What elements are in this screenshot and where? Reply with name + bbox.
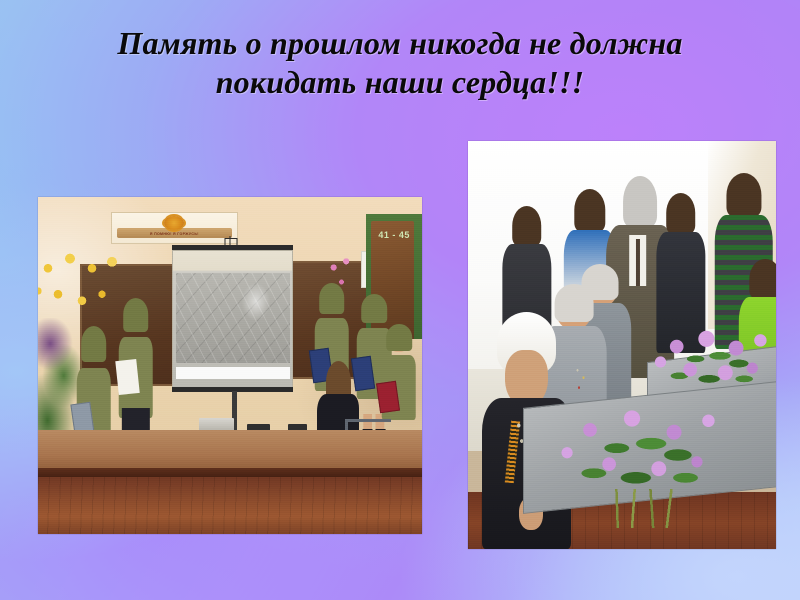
grey-hair xyxy=(624,176,658,227)
wooden-floor xyxy=(38,477,422,534)
projection-screen xyxy=(172,250,293,388)
projected-caption-bar xyxy=(176,367,290,379)
hair xyxy=(512,206,542,246)
lilac-bouquet-front xyxy=(548,398,739,512)
photo-veterans-meeting xyxy=(468,141,776,549)
title-line-1: Память о прошлом никогда не должна xyxy=(40,24,760,63)
memorial-banner: Я ПОМНЮ! Я ГОРЖУСЬ! xyxy=(111,212,238,244)
stems xyxy=(605,489,685,528)
hair xyxy=(726,173,761,218)
sun-emblem-icon xyxy=(164,216,184,230)
military-cap xyxy=(319,283,345,313)
slide-canvas: Память о прошлом никогда не должна покид… xyxy=(0,0,800,600)
page-title: Память о прошлом никогда не должна покид… xyxy=(40,24,760,102)
right-photo-scene xyxy=(468,141,776,549)
hair xyxy=(574,189,605,231)
war-years-label: 41 - 45 xyxy=(378,230,410,240)
photo-school-assembly: Я ПОМНЮ! Я ГОРЖУСЬ! 41 - 45 xyxy=(38,197,422,534)
reading-paper xyxy=(116,359,141,395)
military-cap xyxy=(81,326,107,362)
projected-image xyxy=(176,273,290,363)
left-photo-scene: Я ПОМНЮ! Я ГОРЖУСЬ! 41 - 45 xyxy=(38,197,422,534)
stage-platform xyxy=(38,430,422,474)
necktie xyxy=(636,239,640,286)
banner-text: Я ПОМНЮ! Я ГОРЖУСЬ! xyxy=(150,232,199,236)
lilac-bouquet-back xyxy=(647,325,776,403)
reading-folder xyxy=(376,381,400,413)
military-cap xyxy=(361,294,387,324)
hair xyxy=(750,259,777,299)
blossoms xyxy=(647,325,776,403)
hair xyxy=(666,193,696,233)
veteran-medals xyxy=(573,361,588,398)
yellow-flower-garland xyxy=(38,244,130,325)
military-cap xyxy=(386,324,412,351)
military-cap xyxy=(123,298,149,332)
title-line-2: покидать наши сердца!!! xyxy=(40,63,760,102)
